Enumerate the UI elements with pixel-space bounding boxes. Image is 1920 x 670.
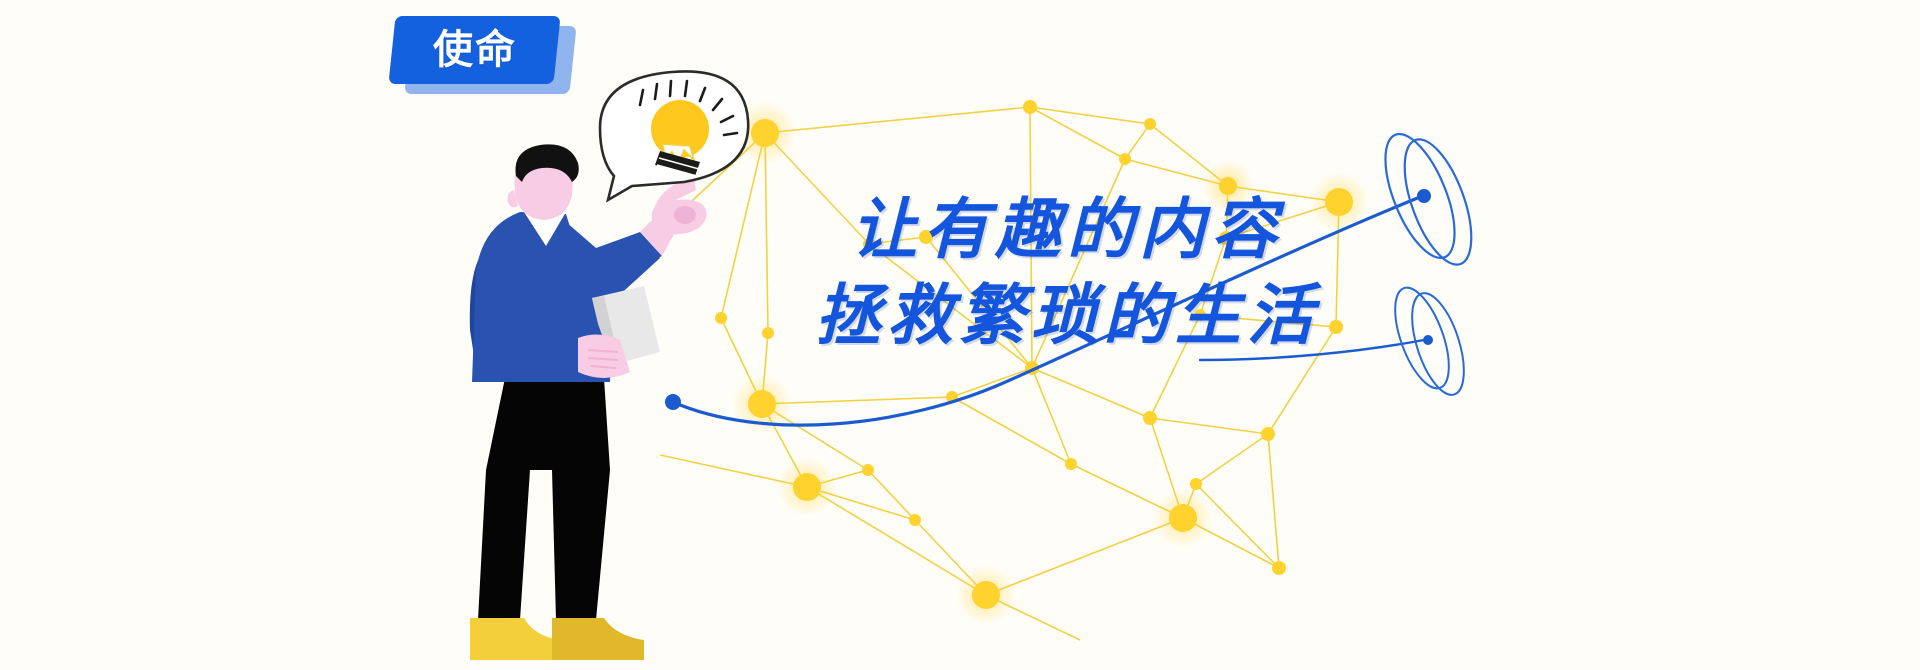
mission-banner: 让有趣的内容 拯救繁琐的生活 使命 xyxy=(0,0,1920,670)
badge-plate: 使命 xyxy=(388,16,560,84)
badge-label: 使命 xyxy=(433,30,517,70)
mission-badge[interactable]: 使命 xyxy=(390,12,575,102)
badge-layer: 使命 xyxy=(0,0,1920,670)
